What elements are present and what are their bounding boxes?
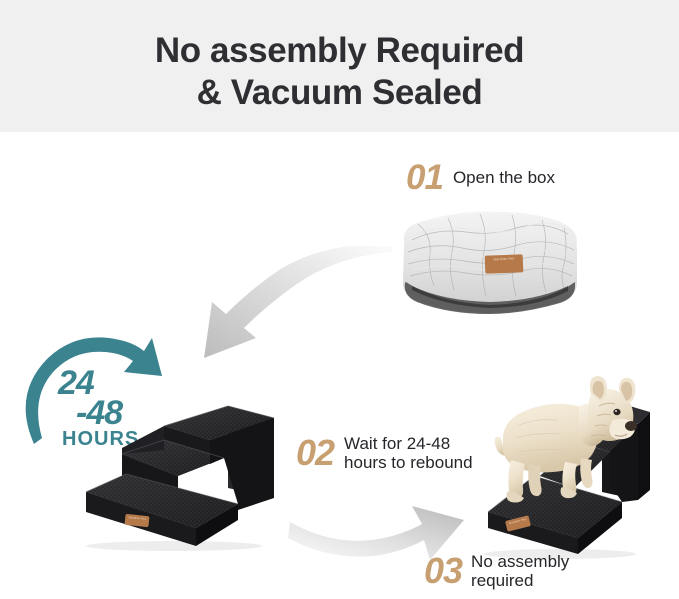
step-03-label-line-1: No assembly	[471, 552, 569, 571]
step-02-label-line-1: Wait for 24-48	[344, 434, 450, 453]
step-03-block: 03 No assembly required	[424, 552, 569, 590]
step-03-label: No assembly required	[471, 552, 569, 590]
step-01-block: 01 Open the box	[406, 160, 555, 195]
header-band: No assembly Required & Vacuum Sealed	[0, 0, 679, 132]
arrow-box-to-stairs-icon	[186, 246, 396, 364]
step-03-label-line-2: required	[471, 571, 533, 590]
title-line-2: & Vacuum Sealed	[0, 72, 679, 114]
step-02-label-line-2: hours to rebound	[344, 453, 473, 472]
page-title: No assembly Required & Vacuum Sealed	[0, 30, 679, 114]
french-bulldog-image	[487, 376, 637, 516]
infographic-canvas: No assembly Required & Vacuum Sealed 01 …	[0, 0, 679, 599]
step-01-number: 01	[406, 160, 443, 195]
step-02-label: Wait for 24-48 hours to rebound	[344, 434, 473, 472]
step-02-number: 02	[296, 435, 334, 471]
title-line-1: No assembly Required	[155, 31, 524, 70]
step-03-number: 03	[424, 553, 462, 589]
pet-stairs-left-image: Gardner Pet	[78, 388, 308, 552]
package-brand-label-text: Gardner Pet	[485, 254, 523, 262]
vacuum-sealed-package-image: Gardner Pet	[396, 206, 586, 324]
stairs-left-brand-label: Gardner Pet	[124, 514, 149, 527]
step-01-label: Open the box	[453, 168, 555, 187]
step-02-block: 02 Wait for 24-48 hours to rebound	[296, 434, 473, 472]
package-brand-label: Gardner Pet	[485, 254, 524, 273]
